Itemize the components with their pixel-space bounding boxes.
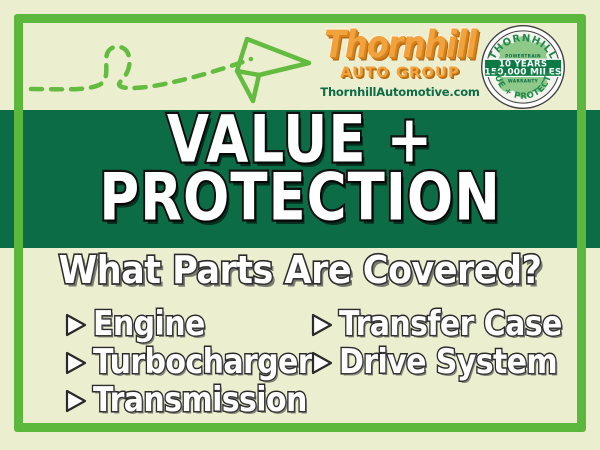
dashed-loop-path-with-arrow-icon bbox=[23, 27, 313, 107]
list-item-label: Transfer Case bbox=[339, 308, 562, 342]
subheading-question: What Parts Are Covered? bbox=[0, 252, 600, 291]
logo-wordmark: Thornhill bbox=[320, 25, 480, 63]
list-item: Transmission bbox=[62, 382, 312, 420]
list-item: Transfer Case bbox=[308, 306, 562, 344]
thornhill-auto-group-logo: Thornhill AUTO GROUP ThornhillAutomotive… bbox=[320, 25, 480, 98]
seal-warranty-text: WARRANTY bbox=[508, 78, 539, 84]
headline-line-2: PROTECTION bbox=[18, 166, 582, 228]
list-item: Turbocharger bbox=[62, 344, 312, 382]
triangle-right-icon bbox=[62, 350, 88, 376]
list-item-label: Engine bbox=[93, 308, 205, 342]
triangle-right-icon bbox=[308, 350, 334, 376]
headline: VALUE + PROTECTION bbox=[0, 112, 600, 225]
warranty-seal-badge: THORNHILL POWERTRAIN 10 YEARS 150,000 MI… bbox=[480, 24, 566, 110]
header-row: Thornhill AUTO GROUP ThornhillAutomotive… bbox=[23, 23, 577, 110]
covered-parts-list: Engine Turbocharger Transmission Tra bbox=[0, 306, 600, 426]
logo-subtitle: AUTO GROUP bbox=[320, 66, 480, 81]
warranty-promo-banner: Thornhill AUTO GROUP ThornhillAutomotive… bbox=[0, 0, 600, 450]
list-item-label: Turbocharger bbox=[93, 346, 312, 380]
list-item-label: Transmission bbox=[93, 384, 307, 418]
list-item: Engine bbox=[62, 306, 312, 344]
triangle-right-icon bbox=[62, 312, 88, 338]
list-item: Drive System bbox=[308, 344, 562, 382]
logo-website-url: ThornhillAutomotive.com bbox=[320, 87, 480, 99]
covered-parts-right-column: Transfer Case Drive System bbox=[308, 306, 562, 382]
triangle-right-icon bbox=[62, 388, 88, 414]
list-item-label: Drive System bbox=[339, 346, 557, 380]
triangle-right-icon bbox=[308, 312, 334, 338]
seal-powertrain-text: POWERTRAIN bbox=[505, 54, 541, 60]
covered-parts-left-column: Engine Turbocharger Transmission bbox=[62, 306, 312, 420]
